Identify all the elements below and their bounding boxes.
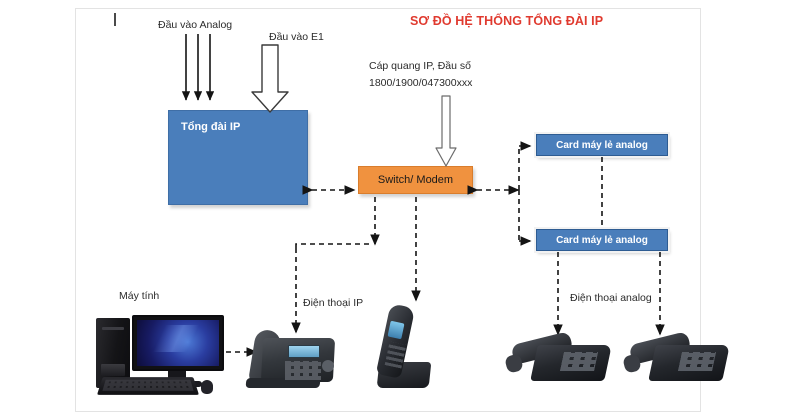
ip-phone-nav-pad bbox=[322, 360, 334, 372]
diagram-canvas: SƠ ĐỒ HỆ THỐNG TỔNG ĐÀI IP Đầu vào Analo… bbox=[0, 0, 800, 420]
monitor-screen bbox=[137, 320, 219, 366]
link-card2-analog-phones bbox=[558, 252, 660, 334]
arrow-fiber-input bbox=[436, 96, 456, 166]
link-switch-cardbus bbox=[477, 146, 530, 241]
link-switch-ipphone bbox=[296, 197, 375, 332]
analog-phone-1-keypad bbox=[560, 352, 598, 371]
ip-phone-lcd bbox=[288, 345, 320, 358]
ip-phone-keypad bbox=[285, 361, 321, 380]
monitor-icon bbox=[132, 315, 224, 371]
arrow-e1-input bbox=[252, 45, 288, 112]
analog-phone-2-keypad bbox=[678, 352, 716, 371]
arrow-analog-input bbox=[186, 34, 210, 100]
keyboard-icon bbox=[97, 377, 199, 395]
mouse-icon bbox=[201, 380, 213, 394]
